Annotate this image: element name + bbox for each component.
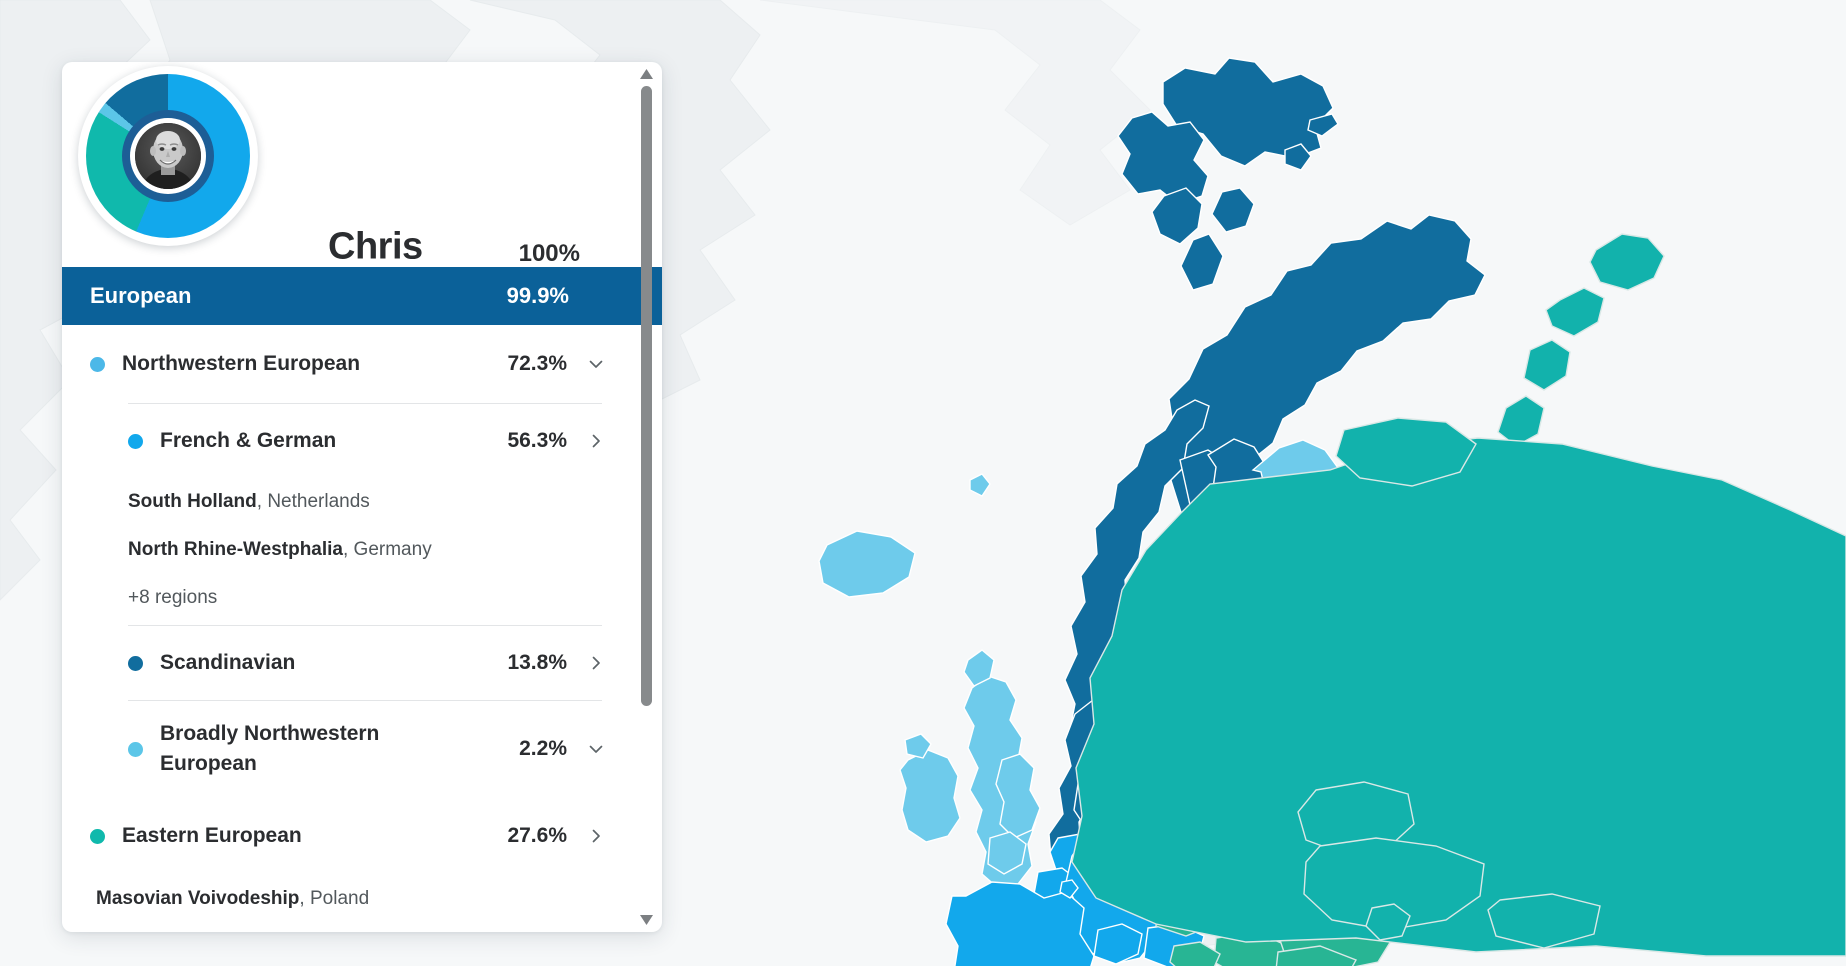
region-place: Masovian Voivodeship: [96, 888, 299, 909]
ancestry-row-scandinavian[interactable]: Scandinavian 13.8%: [62, 626, 662, 700]
profile-name: Chris: [328, 226, 423, 269]
ancestry-list: Northwestern European 72.3% French & Ger…: [62, 325, 662, 932]
color-dot-northwestern-european: [90, 357, 105, 372]
more-regions-link[interactable]: +8 regions: [62, 574, 662, 625]
profile-header: Chris 100%: [62, 62, 662, 267]
ancestry-label: Scandinavian: [160, 648, 295, 678]
region-line: South Holland, Netherlands: [62, 478, 662, 526]
color-dot-eastern-european: [90, 829, 105, 844]
ancestry-percent: 13.8%: [507, 651, 567, 675]
ancestry-label: French & German: [160, 426, 336, 456]
ancestry-row-northwestern-european[interactable]: Northwestern European 72.3%: [62, 325, 662, 403]
continent-row-european[interactable]: European 99.9%: [62, 267, 662, 325]
app-root: Chris 100% European 99.9% Northwestern E…: [0, 0, 1846, 966]
region-place: North Rhine-Westphalia: [128, 539, 343, 560]
ancestry-row-french-and-german[interactable]: French & German 56.3%: [62, 404, 662, 478]
chevron-right-icon[interactable]: [588, 828, 604, 844]
avatar-ring-outer: [122, 110, 214, 202]
ancestry-percent: 56.3%: [507, 429, 567, 453]
ancestry-percent: 72.3%: [507, 352, 567, 376]
card-scroll-viewport[interactable]: Chris 100% European 99.9% Northwestern E…: [62, 62, 662, 932]
ancestry-percent: 2.2%: [519, 737, 567, 761]
more-regions-link[interactable]: +4 regions: [62, 923, 662, 932]
chevron-right-icon[interactable]: [588, 433, 604, 449]
chevron-down-icon[interactable]: [588, 356, 604, 372]
region-country: , Germany: [343, 539, 432, 560]
chevron-right-icon[interactable]: [588, 655, 604, 671]
region-country: , Netherlands: [257, 491, 370, 512]
scrollbar-track[interactable]: [641, 86, 652, 914]
region-country: , Poland: [299, 888, 369, 909]
avatar[interactable]: [135, 123, 201, 189]
region-place: South Holland: [128, 491, 257, 512]
region-line: Masovian Voivodeship, Poland: [62, 875, 662, 923]
color-dot-french-and-german: [128, 434, 143, 449]
ancestry-donut-chart[interactable]: [78, 66, 258, 246]
color-dot-scandinavian: [128, 656, 143, 671]
ancestry-label: Broadly Northwestern European: [160, 719, 408, 780]
ancestry-percent: 27.6%: [507, 824, 567, 848]
card-scrollbar[interactable]: [637, 68, 656, 926]
ancestry-label: Northwestern European: [122, 349, 360, 379]
chevron-down-icon[interactable]: [588, 741, 604, 757]
profile-total-percent: 100%: [519, 240, 580, 268]
triangle-down-icon[interactable]: [639, 914, 654, 926]
continent-percent: 99.9%: [507, 283, 569, 309]
triangle-up-icon[interactable]: [639, 68, 654, 80]
ancestry-label: Eastern European: [122, 821, 302, 851]
ancestry-composition-card: Chris 100% European 99.9% Northwestern E…: [62, 62, 662, 932]
ancestry-row-eastern-european[interactable]: Eastern European 27.6%: [62, 797, 662, 875]
ancestry-row-broadly-northwestern-european[interactable]: Broadly Northwestern European 2.2%: [62, 701, 662, 797]
color-dot-broadly-northwestern-european: [128, 742, 143, 757]
scrollbar-thumb[interactable]: [641, 86, 652, 706]
avatar-photo-icon: [135, 123, 201, 189]
avatar-ring-inner: [130, 118, 206, 194]
continent-label: European: [90, 283, 191, 309]
region-line: North Rhine-Westphalia, Germany: [62, 526, 662, 574]
